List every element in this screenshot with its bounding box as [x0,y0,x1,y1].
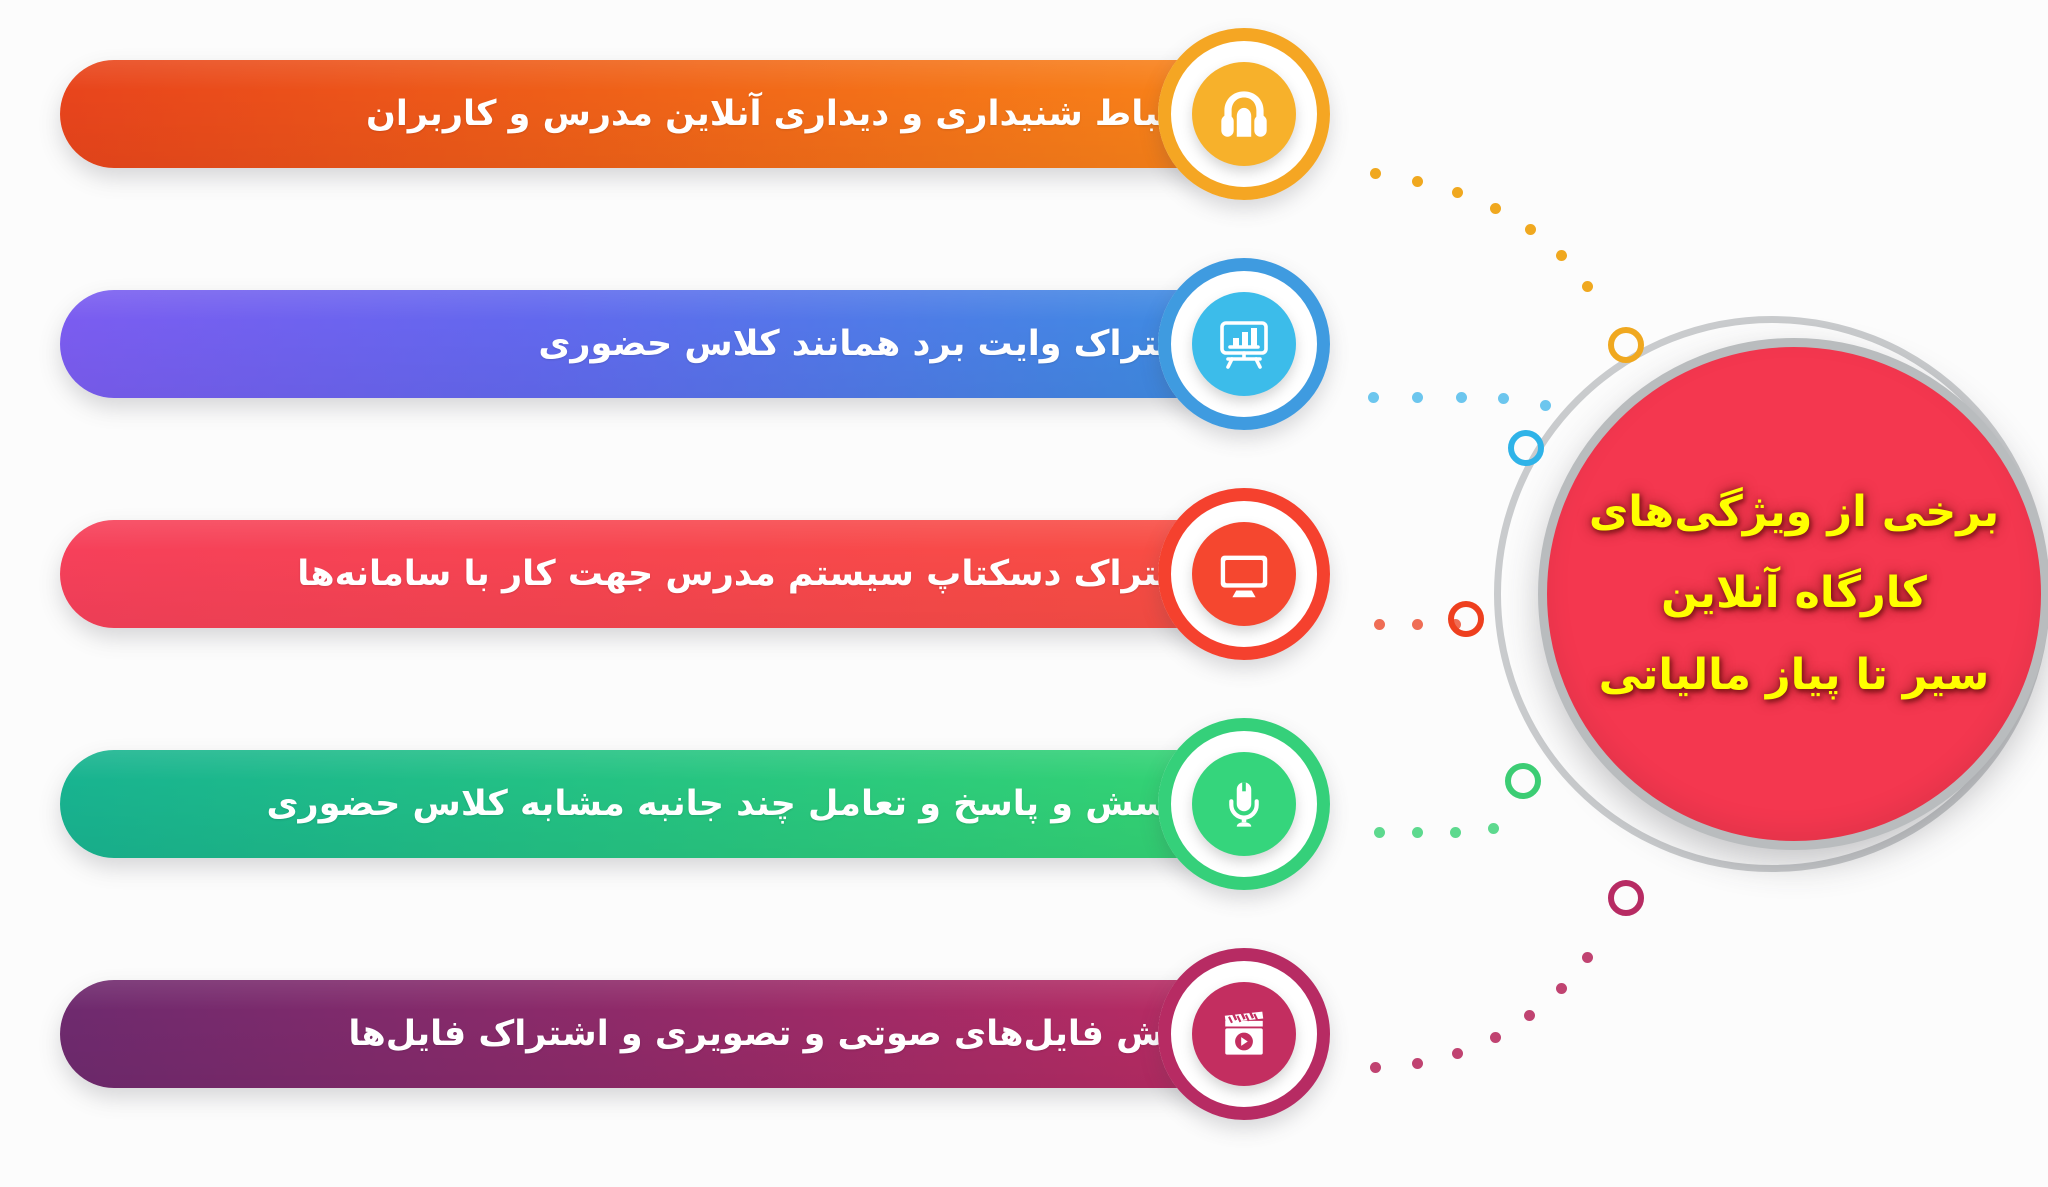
feature-pill-2[interactable]: اشتراک وایت برد همانند کلاس حضوری [60,290,1250,398]
center-circle: برخی از ویژگی‌های کارگاه آنلاین سیر تا پ… [1538,338,2048,850]
connector-dot [1370,168,1381,179]
connector-dot [1452,1048,1463,1059]
feature-pill-3[interactable]: اشتراک دسکتاپ سیستم مدرس جهت کار با ساما… [60,520,1250,628]
connector-dot [1412,392,1423,403]
feature-pill-5[interactable]: پخش فایل‌های صوتی و تصویری و اشتراک فایل… [60,980,1250,1088]
connector-dot [1582,952,1593,963]
connector-node-5 [1608,880,1644,916]
connector-dot [1412,1058,1423,1069]
connector-node-1 [1608,327,1644,363]
connector-dot [1525,224,1536,235]
connector-dot [1370,1062,1381,1073]
connector-dot [1556,983,1567,994]
connector-dot [1374,619,1385,630]
connector-dot [1412,619,1423,630]
feature-icon-badge-4[interactable] [1158,718,1330,890]
feature-label-3: اشتراک دسکتاپ سیستم مدرس جهت کار با ساما… [297,553,1204,595]
feature-icon-badge-5[interactable] [1158,948,1330,1120]
feature-icon-badge-1[interactable] [1158,28,1330,200]
connector-dot [1490,203,1501,214]
headphones-icon [1192,62,1296,166]
connector-node-3 [1448,601,1484,637]
connector-dot [1450,827,1461,838]
feature-icon-badge-3[interactable] [1158,488,1330,660]
connector-dot [1488,823,1499,834]
connector-dot [1498,393,1509,404]
connector-node-4 [1505,763,1541,799]
connector-node-2 [1508,430,1544,466]
connector-dot [1452,187,1463,198]
center-line-3: سیر تا پیاز مالیاتی [1599,653,1990,698]
infographic-canvas: برخی از ویژگی‌های کارگاه آنلاین سیر تا پ… [0,0,2048,1187]
connector-dot [1412,827,1423,838]
video-clapper-icon [1192,982,1296,1086]
connector-dot [1490,1032,1501,1043]
monitor-icon [1192,522,1296,626]
connector-dot [1456,392,1467,403]
whiteboard-chart-icon [1192,292,1296,396]
feature-label-5: پخش فایل‌های صوتی و تصویری و اشتراک فایل… [348,1013,1204,1055]
feature-pill-4[interactable]: پرسش و پاسخ و تعامل چند جانبه مشابه کلاس… [60,750,1250,858]
connector-dot [1374,827,1385,838]
feature-label-4: پرسش و پاسخ و تعامل چند جانبه مشابه کلاس… [266,783,1204,825]
feature-label-1: ارتباط شنیداری و دیداری آنلاین مدرس و کا… [366,93,1204,135]
feature-icon-badge-2[interactable] [1158,258,1330,430]
connector-dot [1412,176,1423,187]
connector-dot [1524,1010,1535,1021]
connector-dot [1582,281,1593,292]
microphone-icon [1192,752,1296,856]
connector-dot [1540,400,1551,411]
feature-label-2: اشتراک وایت برد همانند کلاس حضوری [538,323,1204,365]
connector-dot [1556,250,1567,261]
center-line-1: برخی از ویژگی‌های [1589,490,1999,535]
connector-dot [1368,392,1379,403]
feature-pill-1[interactable]: ارتباط شنیداری و دیداری آنلاین مدرس و کا… [60,60,1250,168]
center-line-2: کارگاه آنلاین [1661,571,1927,616]
